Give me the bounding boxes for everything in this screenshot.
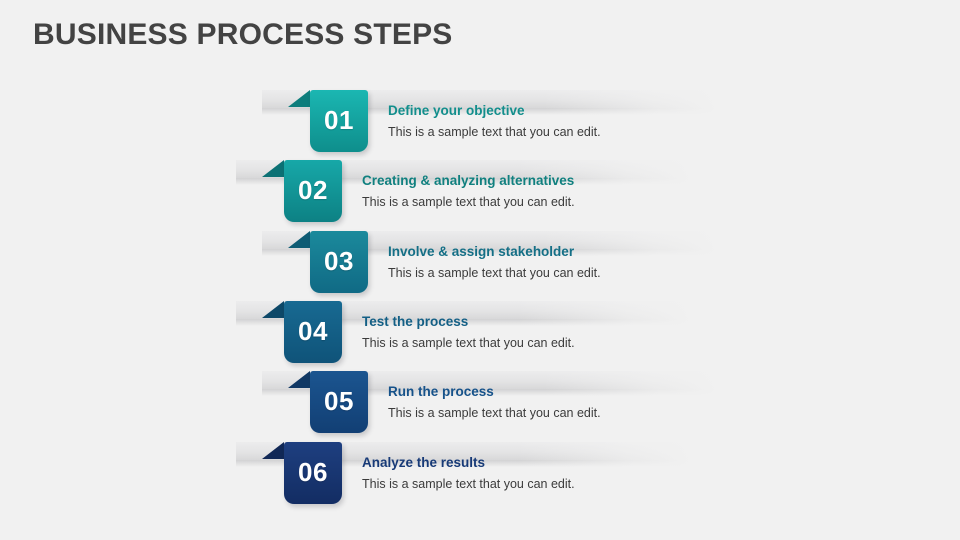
step-tail-fold-icon bbox=[262, 442, 284, 459]
step-subtitle: This is a sample text that you can edit. bbox=[362, 336, 575, 352]
step-subtitle: This is a sample text that you can edit. bbox=[388, 406, 601, 422]
step-tail-fold-icon bbox=[262, 160, 284, 177]
step-text-block: Involve & assign stakeholderThis is a sa… bbox=[388, 244, 601, 282]
step-tail-fold-icon bbox=[288, 371, 310, 388]
slide-canvas: BUSINESS PROCESS STEPS 01Define your obj… bbox=[0, 0, 960, 540]
step-title: Define your objective bbox=[388, 103, 601, 120]
step-text-block: Creating & analyzing alternativesThis is… bbox=[362, 173, 575, 211]
step-number-badge[interactable]: 03 bbox=[310, 231, 368, 293]
step-tail-fold-icon bbox=[262, 301, 284, 318]
step-number-badge[interactable]: 04 bbox=[284, 301, 342, 363]
step-subtitle: This is a sample text that you can edit. bbox=[362, 195, 575, 211]
step-subtitle: This is a sample text that you can edit. bbox=[388, 125, 601, 141]
step-tail-fold-icon bbox=[288, 231, 310, 248]
step-subtitle: This is a sample text that you can edit. bbox=[362, 477, 575, 493]
step-number-badge[interactable]: 06 bbox=[284, 442, 342, 504]
step-title: Creating & analyzing alternatives bbox=[362, 173, 575, 190]
step-text-block: Run the processThis is a sample text tha… bbox=[388, 384, 601, 422]
step-title: Test the process bbox=[362, 314, 575, 331]
step-title: Run the process bbox=[388, 384, 601, 401]
step-number-label: 06 bbox=[298, 459, 328, 487]
step-number-label: 02 bbox=[298, 177, 328, 205]
step-title: Analyze the results bbox=[362, 455, 575, 472]
step-text-block: Analyze the resultsThis is a sample text… bbox=[362, 455, 575, 493]
step-number-badge[interactable]: 05 bbox=[310, 371, 368, 433]
step-text-block: Define your objectiveThis is a sample te… bbox=[388, 103, 601, 141]
step-number-badge[interactable]: 02 bbox=[284, 160, 342, 222]
step-number-badge[interactable]: 01 bbox=[310, 90, 368, 152]
step-text-block: Test the processThis is a sample text th… bbox=[362, 314, 575, 352]
step-number-label: 01 bbox=[324, 107, 354, 135]
step-number-label: 03 bbox=[324, 248, 354, 276]
step-number-label: 04 bbox=[298, 318, 328, 346]
process-steps-list: 01Define your objectiveThis is a sample … bbox=[0, 0, 960, 540]
step-number-label: 05 bbox=[324, 388, 354, 416]
step-tail-fold-icon bbox=[288, 90, 310, 107]
step-title: Involve & assign stakeholder bbox=[388, 244, 601, 261]
step-subtitle: This is a sample text that you can edit. bbox=[388, 266, 601, 282]
